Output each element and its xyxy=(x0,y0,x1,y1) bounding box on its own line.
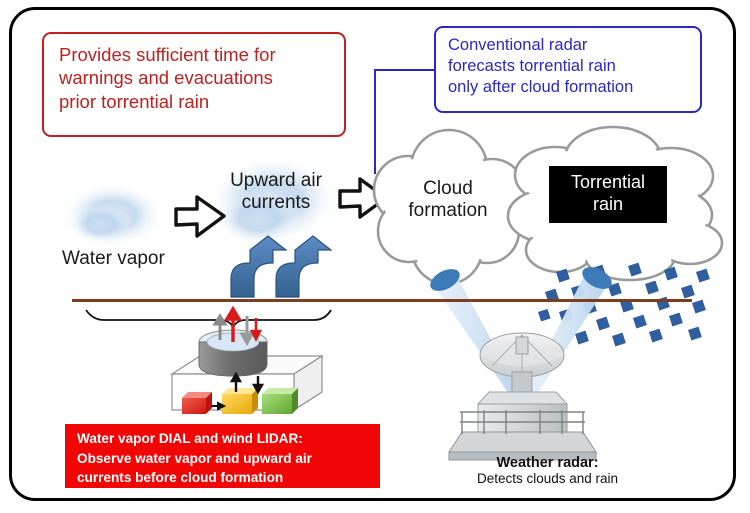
lidar-banner-line-2: Observe water vapor and upward air xyxy=(77,449,380,469)
label-upward-air-line-1: Upward air xyxy=(216,170,336,192)
radar-caption-subtitle: Detects clouds and rain xyxy=(425,471,670,486)
lidar-banner-line-1: Water vapor DIAL and wind LIDAR: xyxy=(77,429,380,449)
benefit-callout-line-3: prior torrential rain xyxy=(59,90,344,113)
radar-caption-title: Weather radar: xyxy=(425,455,670,471)
label-cloud-line-1: Cloud xyxy=(393,178,503,200)
radar-caption: Weather radar: Detects clouds and rain xyxy=(425,455,670,486)
label-water-vapor: Water vapor xyxy=(62,248,165,270)
label-upward-air-currents: Upward air currents xyxy=(216,170,336,215)
label-torrential-rain: Torrential rain xyxy=(549,166,667,223)
label-torrential-line-2: rain xyxy=(549,194,667,216)
callout-connector-line xyxy=(374,69,437,174)
lidar-banner: Water vapor DIAL and wind LIDAR: Observe… xyxy=(65,424,380,488)
lidar-banner-line-3: currents before cloud formation xyxy=(77,468,380,488)
benefit-callout-line-1: Provides sufficient time for xyxy=(59,43,344,66)
benefit-callout: Provides sufficient time for warnings an… xyxy=(42,32,346,137)
label-upward-air-line-2: currents xyxy=(216,192,336,214)
benefit-callout-line-2: warnings and evacuations xyxy=(59,66,344,89)
radar-limitation-line-1: Conventional radar xyxy=(448,35,700,56)
ground-line xyxy=(72,299,692,302)
radar-limitation-line-3: only after cloud formation xyxy=(448,77,700,98)
diagram-canvas: Provides sufficient time for warnings an… xyxy=(0,0,750,513)
label-cloud-line-2: formation xyxy=(393,200,503,222)
radar-limitation-callout: Conventional radar forecasts torrential … xyxy=(434,26,702,113)
label-torrential-line-1: Torrential xyxy=(549,172,667,194)
label-cloud-formation: Cloud formation xyxy=(393,178,503,223)
radar-limitation-line-2: forecasts torrential rain xyxy=(448,56,700,77)
